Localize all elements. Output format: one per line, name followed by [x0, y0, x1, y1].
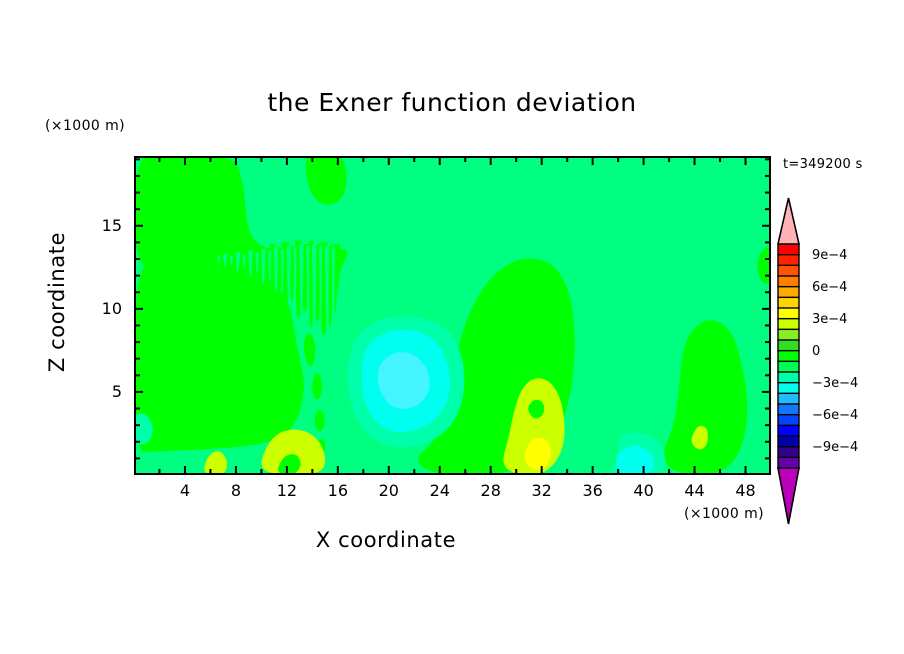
x-tick-label: 12 [267, 481, 307, 500]
contour-plot-area [134, 156, 771, 475]
colorbar-tick-label: −6e−4 [812, 408, 858, 423]
colorbar-tick-label: 9e−4 [812, 248, 847, 263]
x-tick-label: 36 [573, 481, 613, 500]
colorbar [770, 196, 820, 526]
colorbar-tick-label: 3e−4 [812, 312, 847, 327]
x-tick-label: 8 [216, 481, 256, 500]
y-axis-unit-label: (×1000 m) [45, 118, 125, 134]
x-tick-label: 44 [675, 481, 715, 500]
colorbar-tick-label: 0 [812, 344, 820, 359]
x-tick-label: 48 [726, 481, 766, 500]
x-tick-label: 32 [522, 481, 562, 500]
colorbar-swatches [770, 196, 820, 526]
y-tick-label: 5 [82, 382, 122, 401]
y-axis-label: Z coordinate [45, 182, 69, 422]
colorbar-tick-label: −3e−4 [812, 376, 858, 391]
y-tick-label: 10 [82, 299, 122, 318]
x-tick-label: 28 [471, 481, 511, 500]
x-tick-label: 20 [369, 481, 409, 500]
chart-title: the Exner function deviation [0, 88, 904, 117]
x-axis-label: X coordinate [0, 528, 772, 552]
x-tick-label: 16 [318, 481, 358, 500]
colorbar-tick-label: 6e−4 [812, 280, 847, 295]
x-tick-label: 40 [624, 481, 664, 500]
contour-field [134, 156, 771, 475]
x-axis-unit-label: (×1000 m) [684, 506, 764, 522]
x-tick-label: 4 [165, 481, 205, 500]
y-tick-label: 15 [82, 216, 122, 235]
colorbar-tick-label: −9e−4 [812, 440, 858, 455]
timestamp-annotation: t=349200 s [783, 157, 863, 172]
x-tick-label: 24 [420, 481, 460, 500]
